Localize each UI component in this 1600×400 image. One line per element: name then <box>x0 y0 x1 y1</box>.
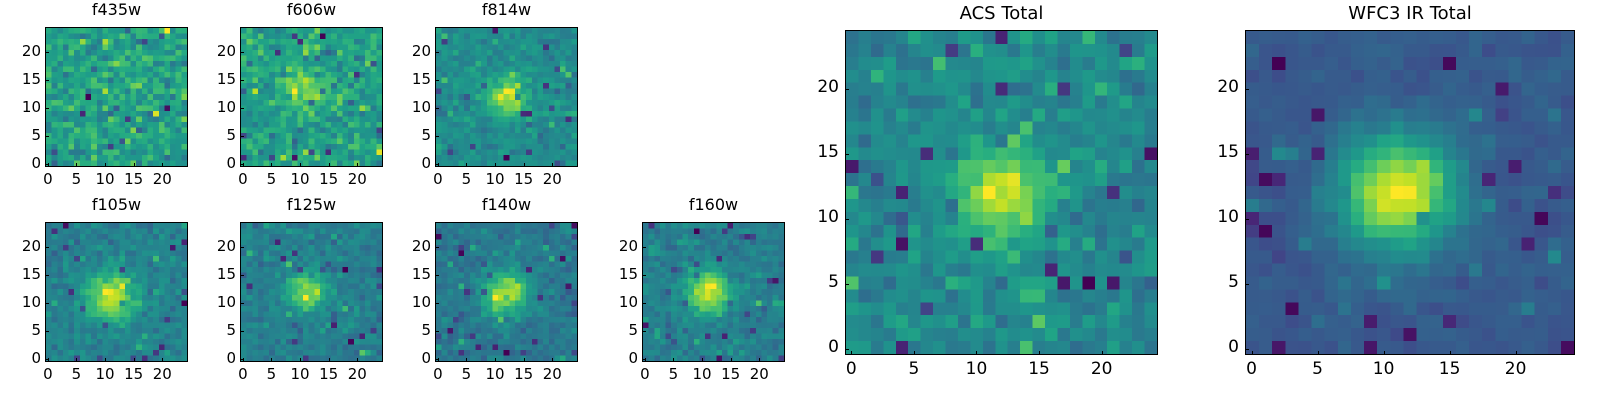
y-tick-label: 0 <box>0 351 41 366</box>
y-tick-label: 20 <box>783 79 839 96</box>
y-tick-label: 20 <box>0 239 41 254</box>
y-tick-mark <box>240 108 244 109</box>
x-tick-mark <box>702 358 703 362</box>
x-tick-mark <box>673 358 674 362</box>
y-tick-label: 20 <box>375 44 431 59</box>
x-tick-mark <box>1252 351 1253 355</box>
y-tick-label: 5 <box>0 323 41 338</box>
panel-title: f105w <box>45 197 188 213</box>
y-tick-label: 0 <box>180 156 236 171</box>
axes-area <box>845 30 1158 355</box>
x-tick-mark <box>1318 351 1319 355</box>
plot-panel-acs-total: ACS Total0510152005101520 <box>775 3 1168 388</box>
y-tick-mark <box>642 331 646 332</box>
y-tick-label: 15 <box>375 267 431 282</box>
y-tick-label: 5 <box>582 323 638 338</box>
x-tick-mark <box>162 358 163 362</box>
y-tick-label: 0 <box>375 351 431 366</box>
y-tick-label: 15 <box>0 72 41 87</box>
x-tick-mark <box>329 358 330 362</box>
y-tick-label: 10 <box>0 295 41 310</box>
y-tick-label: 10 <box>375 100 431 115</box>
x-tick-label: 5 <box>1288 361 1348 378</box>
x-tick-mark <box>105 163 106 167</box>
x-tick-mark <box>645 358 646 362</box>
x-tick-label: 20 <box>1072 361 1132 378</box>
y-tick-mark <box>45 80 49 81</box>
y-tick-mark <box>1245 219 1249 220</box>
panel-title: WFC3 IR Total <box>1245 5 1575 23</box>
heatmap-image <box>241 28 382 166</box>
y-tick-mark <box>845 284 849 285</box>
y-tick-mark <box>45 331 49 332</box>
plot-panel-f125w: f125w0510152005101520 <box>170 195 393 395</box>
y-tick-mark <box>435 108 439 109</box>
heatmap-image <box>436 223 577 361</box>
x-tick-label: 10 <box>1354 361 1414 378</box>
y-tick-mark <box>240 80 244 81</box>
plot-panel-f160w: f160w0510152005101520 <box>572 195 795 395</box>
y-tick-mark <box>435 52 439 53</box>
y-tick-label: 20 <box>375 239 431 254</box>
x-tick-label: 15 <box>1420 361 1480 378</box>
y-tick-label: 15 <box>180 267 236 282</box>
y-tick-mark <box>642 247 646 248</box>
y-tick-mark <box>845 154 849 155</box>
y-tick-mark <box>642 303 646 304</box>
y-tick-mark <box>45 247 49 248</box>
y-tick-label: 0 <box>0 156 41 171</box>
heatmap-image <box>846 31 1157 354</box>
x-tick-mark <box>759 358 760 362</box>
x-tick-mark <box>1516 351 1517 355</box>
x-tick-mark <box>438 358 439 362</box>
y-tick-mark <box>240 52 244 53</box>
y-tick-label: 10 <box>582 295 638 310</box>
x-tick-mark <box>851 351 852 355</box>
y-tick-mark <box>240 303 244 304</box>
y-tick-mark <box>240 247 244 248</box>
y-tick-label: 5 <box>0 128 41 143</box>
axes-area <box>45 27 188 167</box>
y-tick-mark <box>845 89 849 90</box>
plot-panel-f606w: f606w0510152005101520 <box>170 0 393 200</box>
y-tick-label: 5 <box>783 274 839 291</box>
panel-title: f814w <box>435 2 578 18</box>
y-tick-label: 0 <box>180 351 236 366</box>
x-tick-mark <box>466 358 467 362</box>
x-tick-label: 5 <box>884 361 944 378</box>
y-tick-mark <box>642 275 646 276</box>
x-tick-mark <box>76 163 77 167</box>
y-tick-mark <box>240 275 244 276</box>
axes-area <box>45 222 188 362</box>
y-tick-label: 5 <box>180 128 236 143</box>
x-tick-mark <box>162 163 163 167</box>
plot-panel-f435w: f435w0510152005101520 <box>0 0 198 200</box>
x-tick-mark <box>271 163 272 167</box>
y-tick-label: 0 <box>783 339 839 356</box>
x-tick-mark <box>466 163 467 167</box>
y-tick-label: 15 <box>180 72 236 87</box>
plot-panel-f105w: f105w0510152005101520 <box>0 195 198 395</box>
axes-area <box>1245 30 1575 355</box>
y-tick-mark <box>845 219 849 220</box>
y-tick-label: 20 <box>180 44 236 59</box>
y-tick-label: 10 <box>0 100 41 115</box>
y-tick-mark <box>435 136 439 137</box>
y-tick-mark <box>1245 89 1249 90</box>
y-tick-mark <box>45 136 49 137</box>
y-tick-label: 10 <box>375 295 431 310</box>
y-tick-label: 0 <box>582 351 638 366</box>
x-tick-mark <box>1039 351 1040 355</box>
figure-canvas: f435w0510152005101520f606w05101520051015… <box>0 0 1600 400</box>
x-tick-mark <box>134 163 135 167</box>
y-tick-mark <box>240 331 244 332</box>
x-tick-mark <box>300 358 301 362</box>
x-tick-mark <box>329 163 330 167</box>
plot-panel-f140w: f140w0510152005101520 <box>365 195 588 395</box>
y-tick-label: 15 <box>0 267 41 282</box>
x-tick-mark <box>976 351 977 355</box>
x-tick-mark <box>914 351 915 355</box>
axes-area <box>240 222 383 362</box>
y-tick-label: 5 <box>375 128 431 143</box>
y-tick-label: 5 <box>375 323 431 338</box>
axes-area <box>240 27 383 167</box>
heatmap-image <box>46 28 187 166</box>
y-tick-mark <box>845 349 849 350</box>
panel-title: f435w <box>45 2 188 18</box>
x-tick-mark <box>495 163 496 167</box>
x-tick-mark <box>357 163 358 167</box>
y-tick-label: 10 <box>783 209 839 226</box>
x-tick-mark <box>48 163 49 167</box>
y-tick-mark <box>1245 284 1249 285</box>
panel-title: f160w <box>642 197 785 213</box>
x-tick-mark <box>552 163 553 167</box>
y-tick-label: 20 <box>1183 79 1239 96</box>
heatmap-image <box>436 28 577 166</box>
heatmap-image <box>241 223 382 361</box>
y-tick-label: 15 <box>375 72 431 87</box>
x-tick-mark <box>76 358 77 362</box>
x-tick-mark <box>134 358 135 362</box>
x-tick-mark <box>243 163 244 167</box>
panel-title: f140w <box>435 197 578 213</box>
y-tick-label: 5 <box>1183 274 1239 291</box>
y-tick-label: 5 <box>180 323 236 338</box>
y-tick-mark <box>1245 154 1249 155</box>
x-tick-mark <box>495 358 496 362</box>
y-tick-mark <box>435 331 439 332</box>
x-tick-label: 10 <box>946 361 1006 378</box>
axes-area <box>435 27 578 167</box>
x-tick-mark <box>1384 351 1385 355</box>
y-tick-label: 15 <box>1183 144 1239 161</box>
y-tick-mark <box>435 275 439 276</box>
axes-area <box>435 222 578 362</box>
x-tick-label: 20 <box>522 172 582 187</box>
x-tick-mark <box>524 163 525 167</box>
y-tick-mark <box>1245 349 1249 350</box>
heatmap-image <box>643 223 784 361</box>
plot-panel-wfc3-ir-total: WFC3 IR Total0510152005101520 <box>1175 3 1585 388</box>
x-tick-mark <box>1450 351 1451 355</box>
panel-title: f125w <box>240 197 383 213</box>
y-tick-mark <box>435 247 439 248</box>
x-tick-mark <box>271 358 272 362</box>
axes-area <box>642 222 785 362</box>
x-tick-mark <box>300 163 301 167</box>
y-tick-label: 20 <box>582 239 638 254</box>
y-tick-mark <box>45 52 49 53</box>
x-tick-mark <box>524 358 525 362</box>
x-tick-mark <box>105 358 106 362</box>
x-tick-mark <box>552 358 553 362</box>
x-tick-label: 0 <box>1222 361 1282 378</box>
x-tick-label: 15 <box>1009 361 1069 378</box>
y-tick-label: 15 <box>582 267 638 282</box>
y-tick-mark <box>45 108 49 109</box>
x-tick-mark <box>243 358 244 362</box>
y-tick-mark <box>435 80 439 81</box>
x-tick-mark <box>731 358 732 362</box>
y-tick-mark <box>45 275 49 276</box>
y-tick-mark <box>45 303 49 304</box>
y-tick-label: 10 <box>1183 209 1239 226</box>
y-tick-mark <box>240 136 244 137</box>
x-tick-mark <box>1102 351 1103 355</box>
x-tick-label: 0 <box>821 361 881 378</box>
x-tick-mark <box>48 358 49 362</box>
y-tick-label: 10 <box>180 295 236 310</box>
x-tick-mark <box>357 358 358 362</box>
panel-title: f606w <box>240 2 383 18</box>
y-tick-label: 20 <box>180 239 236 254</box>
panel-title: ACS Total <box>845 5 1158 23</box>
y-tick-label: 10 <box>180 100 236 115</box>
x-tick-mark <box>438 163 439 167</box>
plot-panel-f814w: f814w0510152005101520 <box>365 0 588 200</box>
y-tick-label: 15 <box>783 144 839 161</box>
y-tick-label: 20 <box>0 44 41 59</box>
y-tick-label: 0 <box>375 156 431 171</box>
y-tick-label: 0 <box>1183 339 1239 356</box>
x-tick-label: 20 <box>1486 361 1546 378</box>
heatmap-image <box>1246 31 1574 354</box>
y-tick-mark <box>435 303 439 304</box>
heatmap-image <box>46 223 187 361</box>
